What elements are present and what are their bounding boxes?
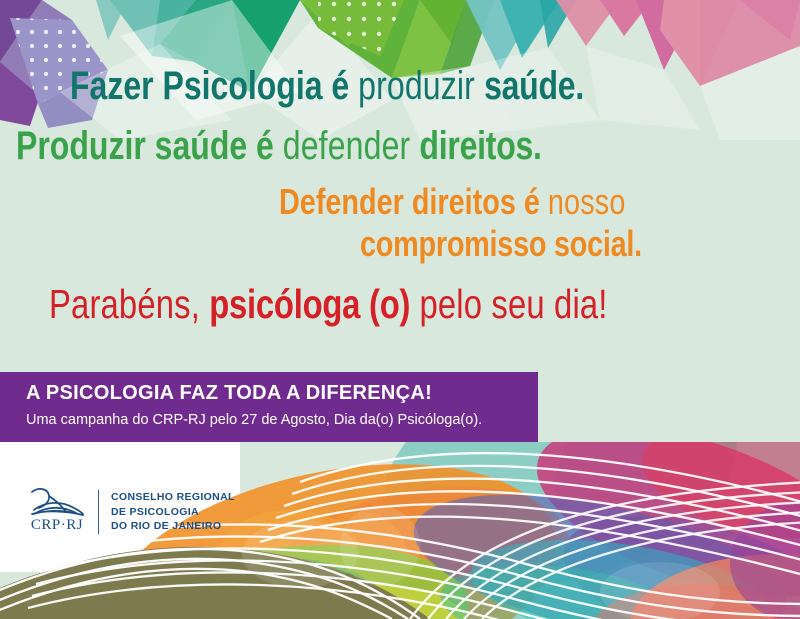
logo-text-line-1: CONSELHO REGIONAL bbox=[111, 490, 235, 505]
crp-rj-bird-book-icon: CRP·RJ bbox=[22, 486, 92, 538]
campaign-banner: A PSICOLOGIA FAZ TODA A DIFERENÇA! Uma c… bbox=[0, 372, 538, 442]
campaign-poster: Fazer Psicologia é produzir saúde. Produ… bbox=[0, 0, 800, 619]
headline-line-3: Defender direitos é nosso bbox=[0, 184, 800, 220]
headline-line-2-part-a: Produzir saúde é bbox=[16, 124, 283, 168]
headline-line-3-part-b: nosso bbox=[548, 181, 626, 222]
banner-headline: A PSICOLOGIA FAZ TODA A DIFERENÇA! bbox=[26, 382, 538, 405]
headline-line-5: Parabéns, psicóloga (o) pelo seu dia! bbox=[0, 284, 800, 325]
headline-line-2-part-b: defender bbox=[283, 124, 420, 168]
banner-subline: Uma campanha do CRP-RJ pelo 27 de Agosto… bbox=[26, 412, 538, 428]
logo-text-line-2: DE PSICOLOGIA bbox=[111, 505, 235, 520]
headline-line-1: Fazer Psicologia é produzir saúde. bbox=[0, 66, 800, 106]
logo-text-line-3: DO RIO DE JANEIRO bbox=[111, 519, 235, 534]
headline-line-4: compromisso social. bbox=[0, 226, 800, 262]
logo-divider bbox=[98, 490, 99, 534]
headline-line-4-part-a: compromisso social. bbox=[360, 223, 642, 264]
headline-line-3-part-a: Defender direitos é bbox=[279, 181, 548, 222]
crp-rj-logo: CRP·RJ CONSELHO REGIONAL DE PSICOLOGIA D… bbox=[22, 486, 235, 538]
headline-line-5-part-c: pelo seu dia! bbox=[410, 281, 607, 327]
crp-rj-acronym: CRP·RJ bbox=[22, 517, 92, 534]
headline-line-5-part-b: psicóloga (o) bbox=[209, 281, 410, 327]
headline-line-1-part-b: produzir bbox=[358, 64, 484, 108]
headline-line-2-part-c: direitos. bbox=[420, 124, 542, 168]
headline-block: Fazer Psicologia é produzir saúde. Produ… bbox=[0, 66, 800, 325]
headline-line-1-part-c: saúde. bbox=[484, 64, 584, 108]
headline-line-5-part-a: Parabéns, bbox=[49, 281, 209, 327]
headline-line-1-part-a: Fazer Psicologia é bbox=[70, 64, 358, 108]
headline-line-2: Produzir saúde é defender direitos. bbox=[0, 126, 800, 166]
logo-text: CONSELHO REGIONAL DE PSICOLOGIA DO RIO D… bbox=[111, 490, 235, 535]
